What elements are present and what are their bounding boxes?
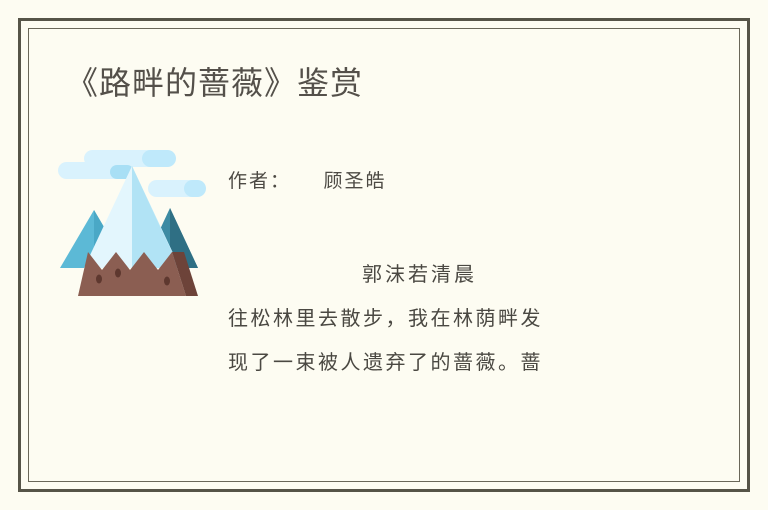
page-title: 《路畔的蔷薇》鉴赏 [66,60,363,106]
rock-dot [115,269,121,278]
text-column: 作者： 顾圣皓 郭沫若清晨 往松林里去散步，我在林荫畔发 现了一束被人遗弃了的蔷… [228,166,648,384]
body-line: 郭沫若清晨 [228,252,648,296]
rock-dot [96,275,102,284]
body-text: 郭沫若清晨 往松林里去散步，我在林荫畔发 现了一束被人遗弃了的蔷薇。蔷 [228,252,648,384]
author-byline: 作者： 顾圣皓 [228,166,648,196]
document-page: 《路畔的蔷薇》鉴赏 [0,0,768,510]
body-line: 往松林里去散步，我在林荫畔发 [228,296,648,340]
body-line: 现了一束被人遗弃了的蔷薇。蔷 [228,340,648,384]
mountain-illustration [56,148,208,296]
rock-dot [164,277,170,286]
